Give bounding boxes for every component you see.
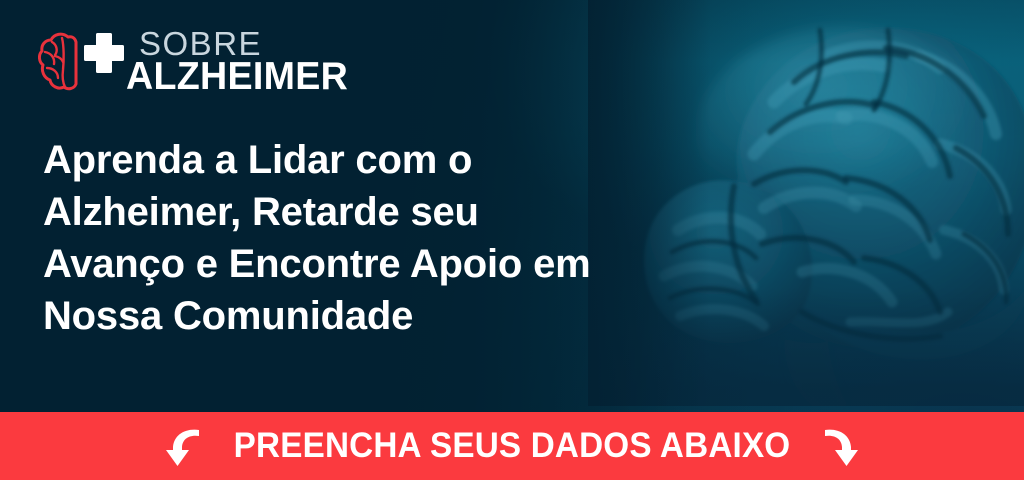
logo-text-alzheimer: ALZHEIMER	[126, 57, 348, 97]
promo-banner: SOBRE ALZHEIMER Aprenda a Lidar com o Al…	[0, 0, 1024, 480]
medical-cross-icon	[80, 29, 128, 77]
curved-arrow-down-left-icon	[163, 423, 203, 469]
site-logo[interactable]: SOBRE ALZHEIMER	[36, 26, 336, 100]
curved-arrow-down-right-icon	[821, 423, 861, 469]
cta-label: PREENCHA SEUS DADOS ABAIXO	[234, 427, 791, 465]
hero-headline: Aprenda a Lidar com o Alzheimer, Retarde…	[43, 134, 603, 342]
cta-bar[interactable]: PREENCHA SEUS DADOS ABAIXO	[0, 412, 1024, 480]
